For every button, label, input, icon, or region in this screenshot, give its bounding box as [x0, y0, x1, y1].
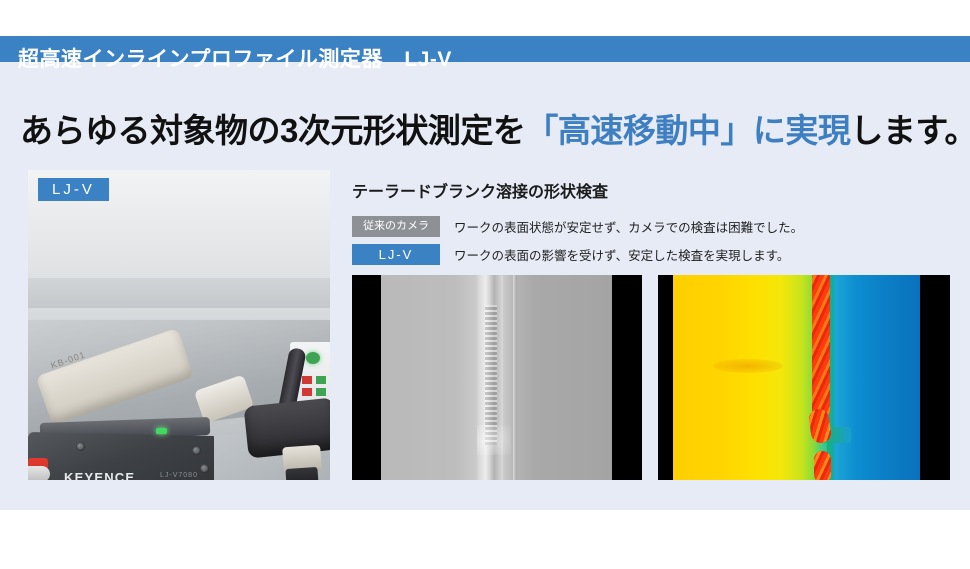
badge-lj-v: LJ-V — [352, 244, 440, 265]
application-photo: KB-001 — [28, 170, 330, 480]
photo-button-red-2 — [302, 388, 312, 396]
photo-screw — [192, 446, 201, 455]
photo-wall-shadow — [28, 278, 330, 308]
headline-part2: します。 — [850, 112, 970, 149]
photo-screw — [76, 442, 85, 451]
conventional-camera-description: ワークの表面状態が安定せず、カメラでの検査は困難でした。 — [454, 217, 803, 236]
photo-torch-collar-2 — [285, 467, 318, 480]
lj-v-description: ワークの表面の影響を受けず、安定した検査を実現します。 — [454, 245, 789, 264]
photo-button-red-1 — [302, 376, 312, 384]
keyence-logo: KEYENCE — [64, 470, 135, 480]
height-map-weld-bead-upper — [812, 275, 830, 419]
photo-product-tag: LJ-V — [38, 178, 109, 201]
comparison-row-conventional: 従来のカメラ ワークの表面状態が安定せず、カメラでの検査は困難でした。 — [352, 215, 803, 237]
height-map-panel — [658, 275, 950, 480]
photo-button-green-1 — [316, 376, 326, 384]
height-map-surface-variation — [713, 359, 783, 373]
camera-seam-notch — [477, 425, 511, 455]
photo-sensor-led — [156, 428, 167, 434]
top-margin — [0, 0, 970, 36]
height-map-weld-bead-lower — [814, 451, 831, 480]
section-title: テーラードブランク溶接の形状検査 — [352, 178, 608, 202]
photo-indicator-led — [306, 352, 320, 364]
photo-button-green-2 — [316, 388, 326, 396]
camera-image-panel — [352, 275, 642, 480]
page-headline: あらゆる対象物の3次元形状測定を「高速移動中」に実現します。 — [20, 108, 960, 154]
banner-title: 超高速インラインプロファイル測定器 LJ-V — [18, 44, 452, 76]
headline-highlight: 「高速移動中」に実現 — [525, 112, 850, 149]
sensor-model-label: LJ-V7080 — [160, 472, 198, 479]
badge-conventional-camera: 従来のカメラ — [352, 216, 440, 237]
photo-sensor-cable — [28, 466, 50, 480]
camera-seam-texture — [485, 305, 497, 445]
promo-page: 超高速インラインプロファイル測定器 LJ-V あらゆる対象物の3次元形状測定を「… — [0, 0, 970, 569]
photo-screw — [200, 464, 209, 473]
camera-image-content — [381, 275, 612, 480]
headline-part1: あらゆる対象物の3次元形状測定を — [20, 112, 525, 149]
camera-plate-edge — [513, 275, 517, 480]
height-map-content — [673, 275, 920, 480]
comparison-row-ljv: LJ-V ワークの表面の影響を受けず、安定した検査を実現します。 — [352, 243, 789, 265]
